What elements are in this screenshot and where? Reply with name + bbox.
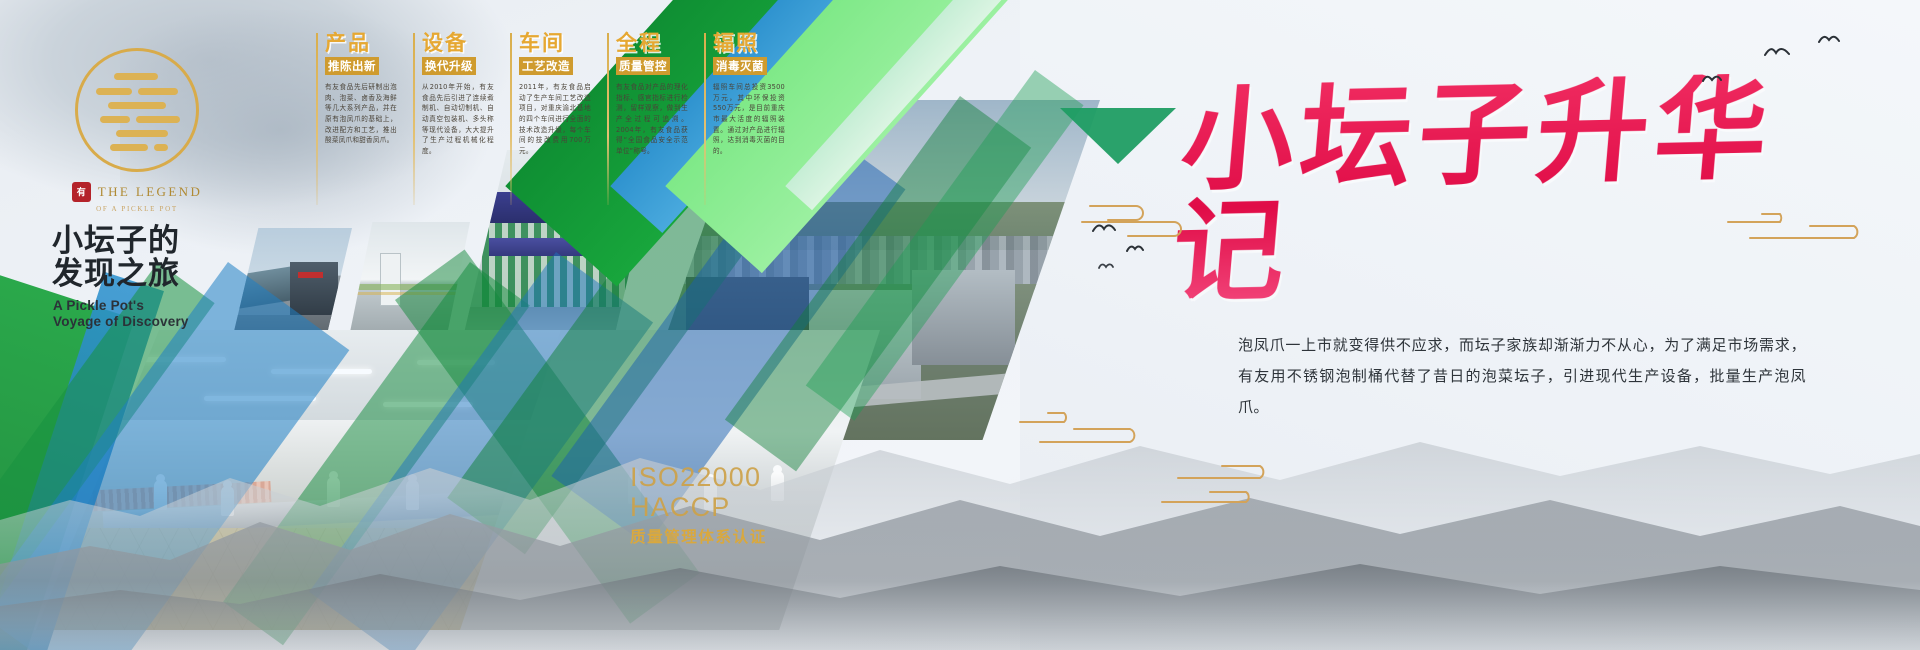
card-heading: 全程 [616,33,688,54]
logo-wordmark: 有 THE LEGEND OF A PICKLE POT [48,182,226,213]
certification-block: ISO22000 HACCP 质量管理体系认证 [630,462,767,547]
certification-haccp: HACCP [630,492,767,522]
timeline-card-product[interactable]: 产品 推陈出新 有友食品先后研制出泡肉、泡菜、卤香及海鲜等几大系列产品，并在原有… [316,33,397,157]
legend-text: THE LEGEND [98,184,203,200]
bird-icon-4 [1092,222,1116,235]
legend-subtext: OF A PICKLE POT [48,205,226,213]
brand-name-cn-line2: 发现之旅 [52,258,226,291]
card-heading: 设备 [422,33,494,54]
brand-name-cn-line1: 小坛子的 [52,225,226,258]
card-heading: 车间 [519,33,591,54]
poster-canvas: 有 THE LEGEND OF A PICKLE POT 小坛子的 发现之旅 A… [0,0,1920,650]
cloud-motif-icon-2 [1726,208,1916,260]
bird-icon-3 [1702,74,1722,85]
hero-paragraph: 泡凤爪一上市就变得供不应求，而坛子家族却渐渐力不从心，为了满足市场需求，有友用不… [1238,330,1806,422]
bird-icon-1 [1764,46,1790,60]
seal-icon: 有 [72,182,91,202]
card-heading: 产品 [325,33,397,54]
timeline-cards: 产品 推陈出新 有友食品先后研制出泡肉、泡菜、卤香及海鲜等几大系列产品，并在原有… [316,33,785,157]
card-body: 有友食品对产品的理化指标、感官指标进行检测，留样观察，做到生产全过程可追溯。20… [616,82,688,157]
certification-iso: ISO22000 [630,462,767,492]
timeline-card-quality[interactable]: 全程 质量管控 有友食品对产品的理化指标、感官指标进行检测，留样观察，做到生产全… [607,33,688,157]
bird-icon-5 [1126,244,1144,254]
page-title: 小坛子升华记 [1168,71,1888,310]
card-body: 辐照车间总投资3500万元，其中环保投资550万元，是目前重庆市最大活度的辐照装… [713,82,785,157]
card-subheading: 换代升级 [422,57,476,75]
card-body: 从2010年开始，有友食品先后引进了连续煮制机、自动切制机、自动真空包装机、多头… [422,82,494,157]
card-subheading: 消毒灭菌 [713,57,767,75]
card-subheading: 质量管控 [616,57,670,75]
brand-name-en-line1: A Pickle Pot's [53,298,226,315]
timeline-card-irradiation[interactable]: 辐照 消毒灭菌 辐照车间总投资3500万元，其中环保投资550万元，是目前重庆市… [704,33,785,157]
cloud-motif-icon-4 [1160,456,1390,536]
card-body: 有友食品先后研制出泡肉、泡菜、卤香及海鲜等几大系列产品，并在原有泡凤爪的基础上，… [325,82,397,146]
brand-name-cn: 小坛子的 发现之旅 [48,225,226,291]
card-subheading: 推陈出新 [325,57,379,75]
timeline-card-equipment[interactable]: 设备 换代升级 从2010年开始，有友食品先后引进了连续煮制机、自动切制机、自动… [413,33,494,157]
certification-caption: 质量管理体系认证 [630,525,767,547]
card-subheading: 工艺改造 [519,57,573,75]
brand-logo: 有 THE LEGEND OF A PICKLE POT 小坛子的 发现之旅 A… [48,48,226,331]
timeline-card-workshop[interactable]: 车间 工艺改造 2011年，有友食品启动了生产车间工艺改造项目，对重庆渝北基地的… [510,33,591,157]
brand-name-en: A Pickle Pot's Voyage of Discovery [48,298,226,331]
brand-name-en-line2: Voyage of Discovery [53,314,226,331]
bird-icon-2 [1818,34,1840,46]
bird-icon-6 [1098,262,1114,271]
logo-seal-circle [75,48,199,172]
card-heading: 辐照 [713,33,785,54]
cloud-motif-icon-1 [1078,196,1228,242]
card-body: 2011年，有友食品启动了生产车间工艺改造项目，对重庆渝北基地的四个车间进行全面… [519,82,591,157]
